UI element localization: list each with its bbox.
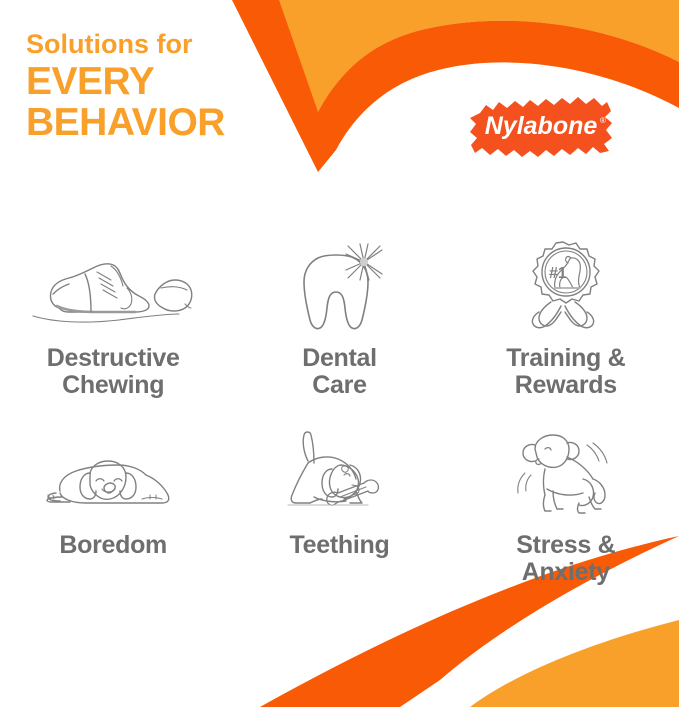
benefit-label-line2: Chewing [47,372,180,399]
benefit-stress-anxiety: Stress & Anxiety [453,431,679,611]
award-rosette-dog-icon: #1 [501,236,631,336]
benefit-label: Boredom [59,532,167,559]
benefit-label-line2: Rewards [506,372,625,399]
benefit-label-line1: Destructive [47,344,180,372]
benefits-row-top: Destructive Chewing [0,236,679,431]
headline-block: Solutions for EVERY BEHAVIOR [26,31,225,142]
benefit-dental-care: Dental Care [226,236,452,431]
benefit-label-line1: Stress & [516,531,615,559]
nylabone-behavior-poster: Solutions for EVERY BEHAVIOR Nylabone ® [0,0,679,707]
bottom-swoosh-light [470,620,679,707]
headline-line-3: BEHAVIOR [26,103,225,142]
benefit-label-line2: Anxiety [516,559,615,586]
benefit-label: Dental Care [302,345,377,399]
benefit-label: Teething [290,532,390,559]
benefit-label: Training & Rewards [506,345,625,399]
benefit-teething: Teething [226,431,452,611]
headline-line-2: EVERY [26,62,225,101]
logo-trademark: ® [600,116,606,125]
benefit-label-line1: Dental [302,344,377,372]
benefits-row-bottom: Boredom [0,431,679,611]
sparkling-tooth-icon [274,236,404,336]
nylabone-logo: Nylabone ® [466,89,616,165]
headline-line-1: Solutions for [26,31,225,58]
puppy-chewing-bone-icon [264,431,414,523]
benefit-label-line2: Care [302,372,377,399]
benefit-label: Destructive Chewing [47,345,180,399]
chewed-shoe-icon [23,236,203,336]
benefit-destructive-chewing: Destructive Chewing [0,236,226,431]
resting-dog-icon [26,431,201,523]
logo-brushstroke-bone: Nylabone ® [466,89,616,165]
benefit-label-line1: Boredom [59,531,167,559]
logo-wordmark: Nylabone [485,112,598,140]
benefits-grid: Destructive Chewing [0,236,679,611]
benefit-label-line1: Training & [506,344,625,372]
benefit-boredom: Boredom [0,431,226,611]
benefit-label: Stress & Anxiety [516,532,615,586]
anxious-dog-icon [501,431,631,523]
benefit-label-line1: Teething [290,531,390,559]
benefit-training-rewards: #1 Training & Rewards [453,236,679,431]
badge-rank-text: #1 [549,265,567,282]
